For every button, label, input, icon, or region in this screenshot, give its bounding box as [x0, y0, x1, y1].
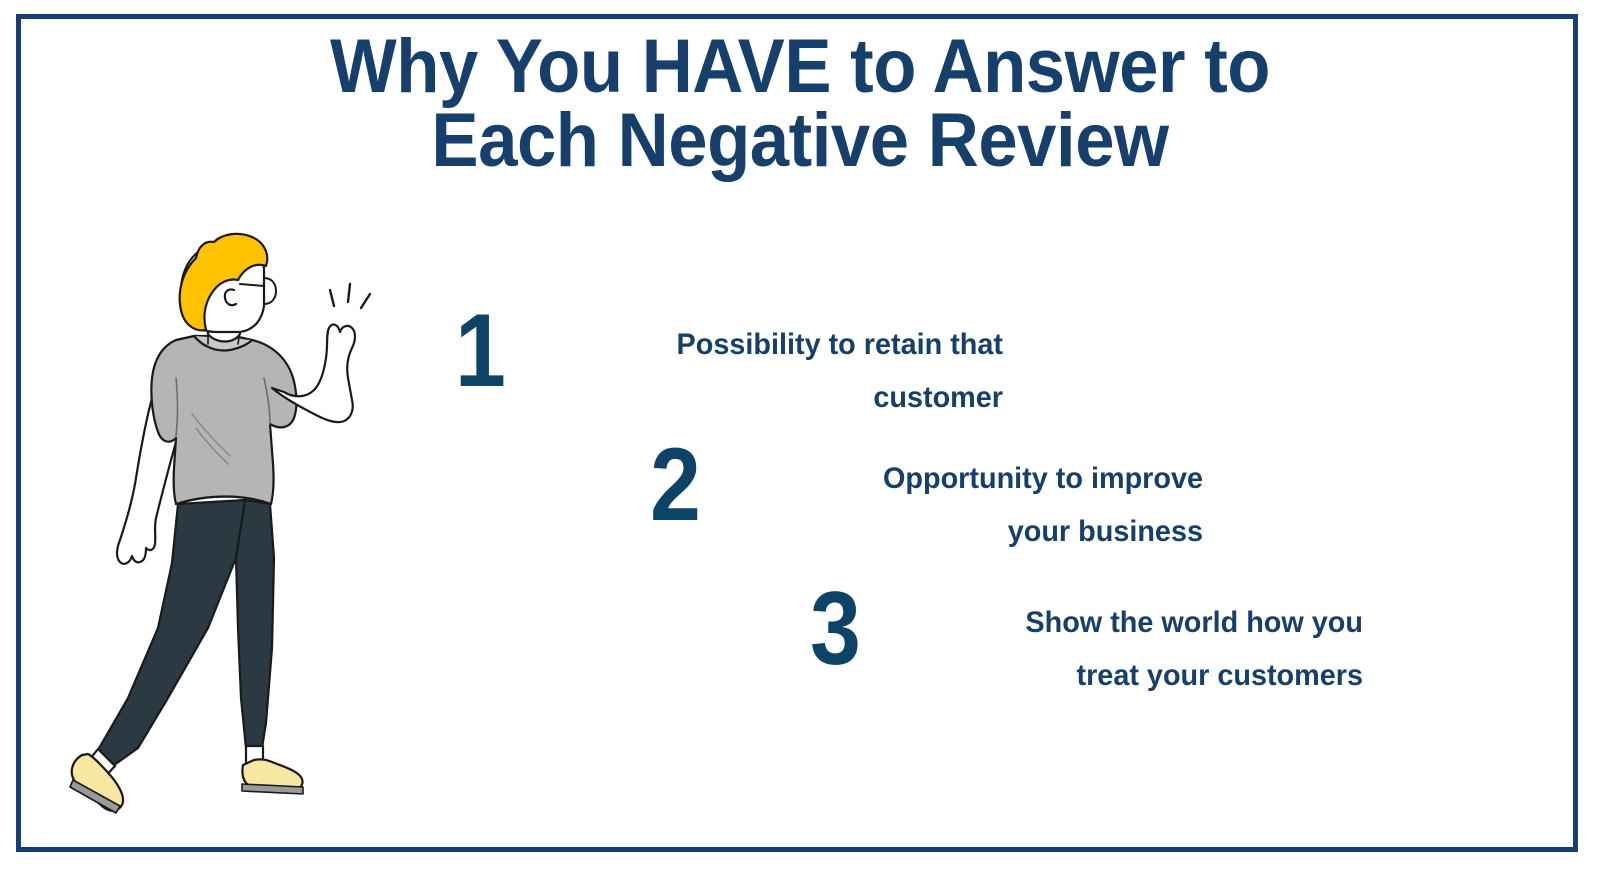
glasses-lens: [264, 278, 276, 304]
list-text-2: Opportunity to improve your business: [819, 440, 1203, 559]
list-item: 1 Possibility to retain that customer: [455, 306, 1003, 425]
infographic-canvas: Why You HAVE to Answer to Each Negative …: [0, 0, 1600, 876]
list-number-2: 2: [650, 440, 701, 532]
trouser-back-leg: [236, 500, 274, 748]
list-text-1: Possibility to retain that customer: [619, 306, 1003, 425]
list-item: 2 Opportunity to improve your business: [650, 440, 1203, 559]
page-title: Why You HAVE to Answer to Each Negative …: [168, 30, 1433, 179]
list-number-1: 1: [455, 306, 506, 398]
list-number-3: 3: [810, 584, 861, 676]
list-text-3: Show the world how you treat your custom…: [979, 584, 1363, 703]
polo-shirt: [151, 336, 296, 504]
snap-motion-marks-icon: [330, 284, 370, 308]
person-illustration-icon: [58, 228, 418, 823]
list-item: 3 Show the world how you treat your cust…: [810, 584, 1363, 703]
